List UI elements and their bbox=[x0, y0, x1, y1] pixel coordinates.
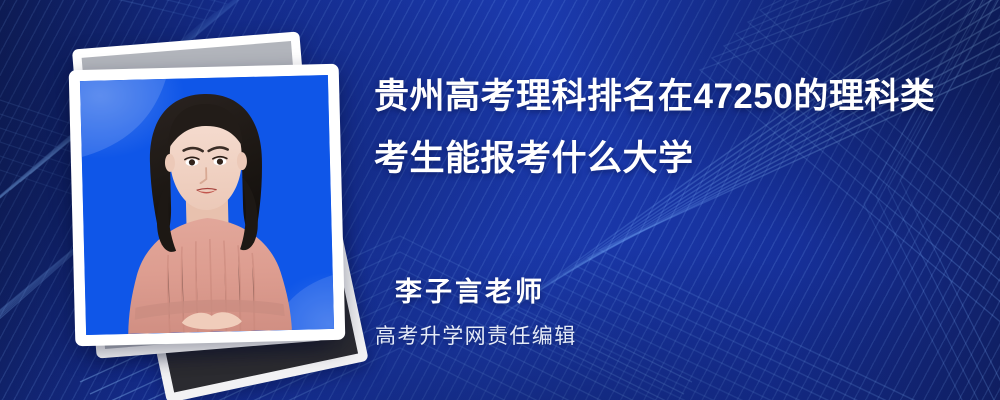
author-name: 李子言老师 bbox=[395, 270, 545, 309]
portrait-figure-icon bbox=[80, 75, 334, 335]
text-column: 贵州高考理科排名在47250的理科类考生能报考什么大学 李子言老师 高考升学网责… bbox=[374, 0, 974, 400]
portrait-photo bbox=[80, 75, 334, 335]
portrait-card-stack bbox=[62, 34, 352, 364]
author-role: 高考升学网责任编辑 bbox=[375, 320, 577, 350]
portrait-photo-frame bbox=[69, 64, 346, 347]
page-title: 贵州高考理科排名在47250的理科类考生能报考什么大学 bbox=[374, 66, 964, 190]
promo-banner: 贵州高考理科排名在47250的理科类考生能报考什么大学 李子言老师 高考升学网责… bbox=[0, 0, 1000, 400]
